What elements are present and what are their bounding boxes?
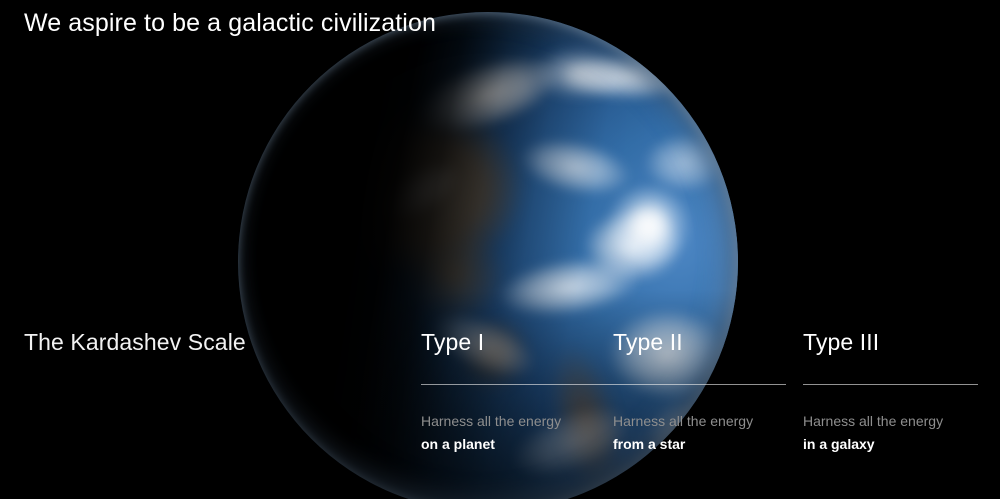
tier-description-strong: in a galaxy	[803, 434, 978, 454]
tier-description-strong: from a star	[613, 434, 786, 454]
tier-title: Type II	[613, 326, 786, 358]
tier-description-muted: Harness all the energy	[613, 411, 786, 431]
tier-divider	[613, 384, 786, 385]
tier-type-2[interactable]: Type II Harness all the energy from a st…	[613, 326, 786, 454]
tier-divider	[803, 384, 978, 385]
tier-description: Harness all the energy from a star	[613, 411, 786, 454]
page-title: We aspire to be a galactic civilization	[24, 6, 436, 40]
scale-label: The Kardashev Scale	[24, 326, 246, 358]
hero-slide: We aspire to be a galactic civilization …	[0, 0, 1000, 499]
tier-type-3[interactable]: Type III Harness all the energy in a gal…	[803, 326, 978, 454]
content-layer: We aspire to be a galactic civilization …	[0, 0, 1000, 499]
tier-description-muted: Harness all the energy	[803, 411, 978, 431]
tier-description: Harness all the energy in a galaxy	[803, 411, 978, 454]
tier-title: Type III	[803, 326, 978, 358]
